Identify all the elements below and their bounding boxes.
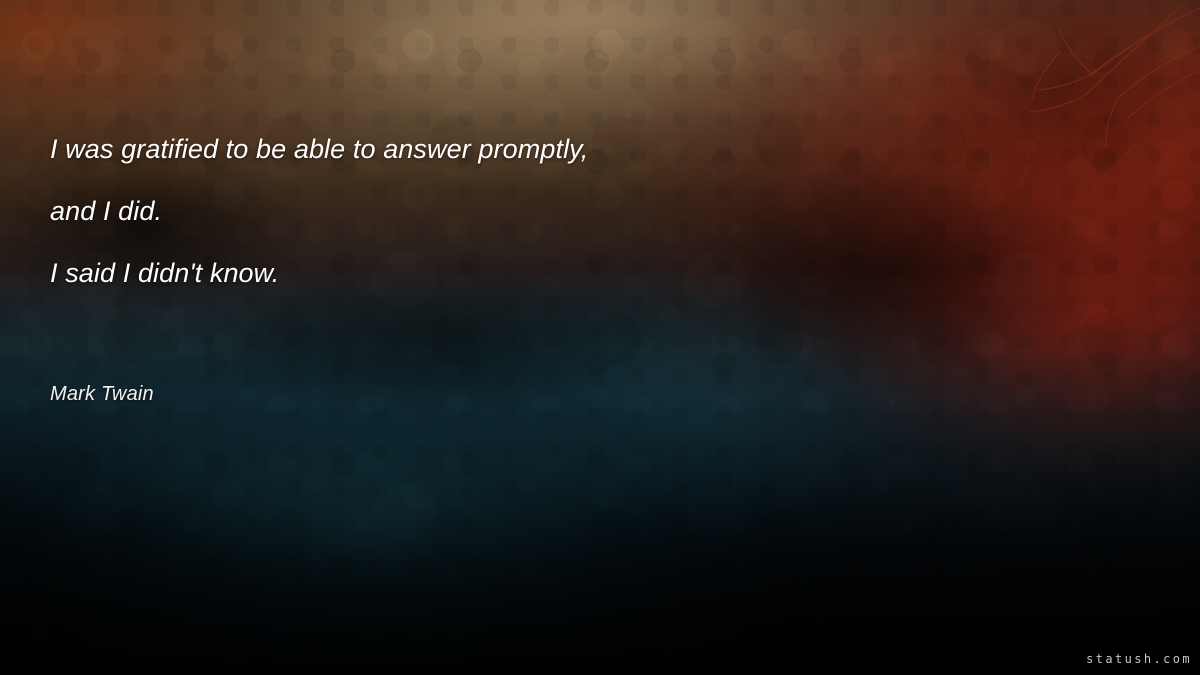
quote-author: Mark Twain xyxy=(50,383,154,406)
quote-line-3: I said I didn't know. xyxy=(50,242,930,304)
quote-line-1: I was gratified to be able to answer pro… xyxy=(50,118,930,180)
content-layer: I was gratified to be able to answer pro… xyxy=(0,0,1200,675)
site-watermark: statush.com xyxy=(1086,652,1192,666)
quote-card: I was gratified to be able to answer pro… xyxy=(0,0,1200,675)
quote-line-2: and I did. xyxy=(50,180,930,242)
quote-text: I was gratified to be able to answer pro… xyxy=(50,118,930,304)
